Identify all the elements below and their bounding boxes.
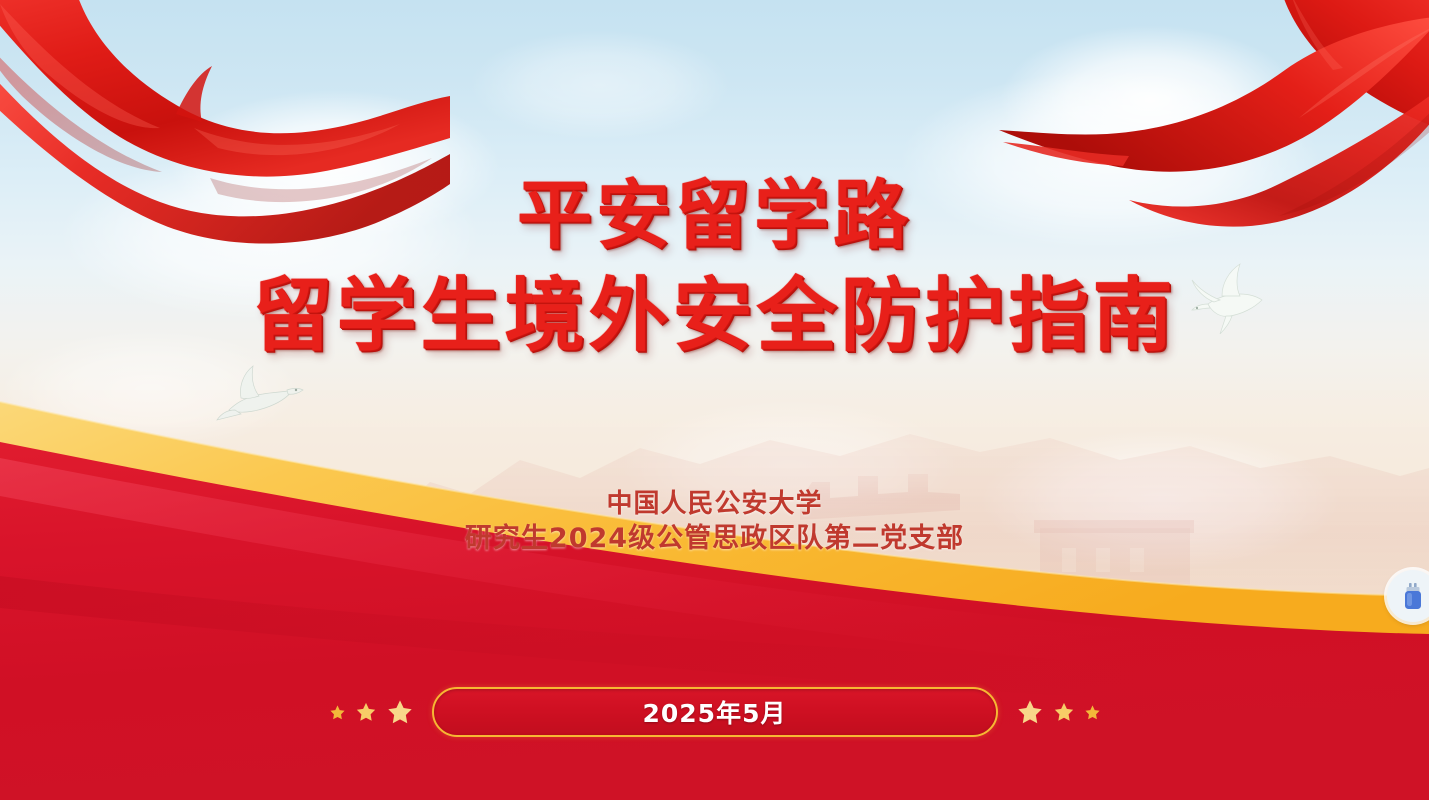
organization-department: 研究生2024级公管思政区队第二党支部 — [0, 521, 1429, 557]
star-medium-icon — [355, 701, 377, 723]
star-small-icon — [329, 704, 346, 721]
slide-footer: 2025年5月 — [0, 686, 1429, 738]
title-line-1: 平安留学路 — [0, 178, 1429, 253]
star-large-icon — [386, 698, 414, 726]
star-small-icon — [1084, 704, 1101, 721]
star-medium-icon — [1053, 701, 1075, 723]
title-line-2: 留学生境外安全防护指南 — [0, 275, 1429, 355]
stars-right-group — [1016, 698, 1101, 726]
star-large-icon — [1016, 698, 1044, 726]
slide-title: 平安留学路 留学生境外安全防护指南 — [0, 178, 1429, 355]
stars-left-group — [329, 698, 414, 726]
organization-block: 中国人民公安大学 研究生2024级公管思政区队第二党支部 — [0, 487, 1429, 557]
title-slide: 平安留学路 留学生境外安全防护指南 中国人民公安大学 研究生2024级公管思政区… — [0, 0, 1429, 800]
usb-drive-icon — [1401, 582, 1425, 610]
date-pill: 2025年5月 — [432, 687, 998, 737]
date-text: 2025年5月 — [643, 694, 787, 730]
organization-name: 中国人民公安大学 — [0, 487, 1429, 521]
